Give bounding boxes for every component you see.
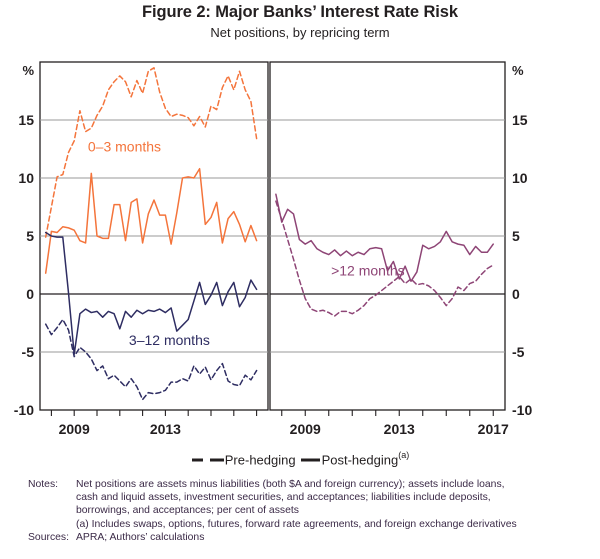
x-axis-tick-label: 2017: [478, 421, 509, 437]
y-axis-tick-label-right: 5: [512, 228, 520, 244]
y-axis-tick-label-left: 5: [26, 228, 34, 244]
chart-legend: Pre-hedging Post-hedging(a): [0, 450, 600, 467]
notes-text: Net positions are assets minus liabiliti…: [76, 478, 596, 531]
sources-row: Sources: APRA; Authors’ calculations: [28, 531, 596, 544]
series-annotation-label: 0–3 months: [88, 138, 161, 154]
y-axis-unit-label-right: %: [512, 63, 524, 78]
pre-hedging-legend-swatch: [191, 455, 225, 465]
y-axis-tick-label-left: 10: [18, 170, 34, 186]
page-title: Figure 2: Major Banks’ Interest Rate Ris…: [0, 3, 600, 22]
notes-block: Notes: Net positions are assets minus li…: [28, 478, 596, 544]
sources-text: APRA; Authors’ calculations: [76, 531, 596, 544]
y-axis-tick-label-right: 0: [512, 286, 520, 302]
y-axis-tick-label-left: 15: [18, 112, 34, 128]
notes-label: Notes:: [28, 478, 76, 531]
sources-label: Sources:: [28, 531, 76, 544]
chart-plot-area: 151510105500-5-5-10-10%%200920130–3 mont…: [0, 48, 600, 448]
y-axis-tick-label-right: 15: [512, 112, 528, 128]
y-axis-tick-label-right: 10: [512, 170, 528, 186]
series-line: [46, 169, 257, 273]
figure-subtitle: Net positions, by repricing term: [0, 25, 600, 40]
y-axis-tick-label-left: -5: [22, 344, 35, 360]
post-hedging-legend-label: Post-hedging: [322, 452, 399, 467]
y-axis-tick-label-left: -10: [14, 402, 34, 418]
y-axis-unit-label-left: %: [22, 63, 34, 78]
notes-line-1: Net positions are assets minus liabiliti…: [76, 478, 596, 491]
post-hedging-legend-swatch: [300, 455, 322, 465]
notes-line-3: borrowings, and acceptances; per cent of…: [76, 504, 596, 517]
notes-row: Notes: Net positions are assets minus li…: [28, 478, 596, 531]
series-annotation-label: 3–12 months: [129, 332, 210, 348]
post-hedging-footnote-marker: (a): [398, 450, 409, 460]
y-axis-tick-label-right: -10: [512, 402, 532, 418]
notes-line-2: cash and liquid assets, investment secur…: [76, 491, 596, 504]
pre-hedging-legend-label: Pre-hedging: [225, 452, 296, 467]
y-axis-tick-label-right: -5: [512, 344, 525, 360]
x-axis-tick-label: 2009: [290, 421, 321, 437]
x-axis-tick-label: 2009: [59, 421, 90, 437]
interest-rate-risk-chart: 151510105500-5-5-10-10%%200920130–3 mont…: [0, 48, 600, 448]
y-axis-tick-label-left: 0: [26, 286, 34, 302]
notes-footnote-a: (a) Includes swaps, options, futures, fo…: [76, 518, 596, 531]
x-axis-tick-label: 2013: [150, 421, 181, 437]
figure-container: Figure 2: Major Banks’ Interest Rate Ris…: [0, 0, 600, 559]
series-annotation-label: >12 months: [331, 262, 405, 278]
x-axis-tick-label: 2013: [384, 421, 415, 437]
